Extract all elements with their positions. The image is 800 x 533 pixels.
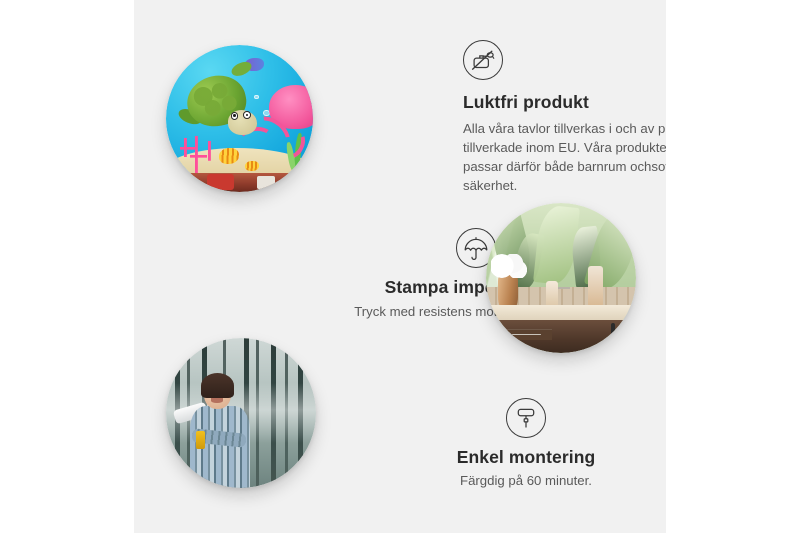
vanity-drawer-graphic — [501, 329, 552, 340]
feature-block-assembly: Enkel montering Färgdig på 60 minuter. — [436, 398, 616, 490]
feature-title: Enkel montering — [436, 447, 616, 468]
paint-roller-icon — [506, 398, 546, 438]
feature-title: Luktfri produkt — [463, 92, 666, 113]
no-odour-perfume-icon — [463, 40, 503, 80]
content-stage: Luktfri produkt Alla våra tavlor tillver… — [134, 0, 666, 533]
white-flowers-graphic — [491, 254, 527, 278]
soap-dispenser-graphic — [546, 281, 558, 308]
decor-bottle-graphic — [588, 266, 603, 307]
photo-bathroom-image — [486, 203, 636, 353]
feature-description: Färgdig på 60 minuter. — [436, 471, 616, 490]
photo-painter-image — [166, 338, 316, 488]
bubble-icon — [254, 95, 258, 99]
smile-graphic — [211, 398, 223, 403]
vanity-handle-graphic — [611, 323, 615, 350]
room-floor-strip — [166, 173, 313, 192]
feature-description: Alla våra tavlor tillverkas i och av pro… — [463, 119, 666, 195]
feature-block-odourless: Luktfri produkt Alla våra tavlor tillver… — [463, 40, 666, 195]
turtle-eye-icon — [231, 112, 239, 120]
pink-coral-graphic — [178, 136, 219, 174]
yellow-tool-graphic — [196, 431, 205, 449]
photo-underwater-image — [166, 45, 313, 192]
photo-underwater[interactable] — [166, 45, 313, 192]
page-root: Luktfri produkt Alla våra tavlor tillver… — [0, 0, 800, 533]
hair-graphic — [201, 373, 234, 399]
turtle-eye-icon — [243, 111, 251, 119]
octopus-eye-icon — [311, 100, 313, 104]
photo-painter[interactable] — [166, 338, 316, 488]
photo-bathroom[interactable] — [486, 203, 636, 353]
